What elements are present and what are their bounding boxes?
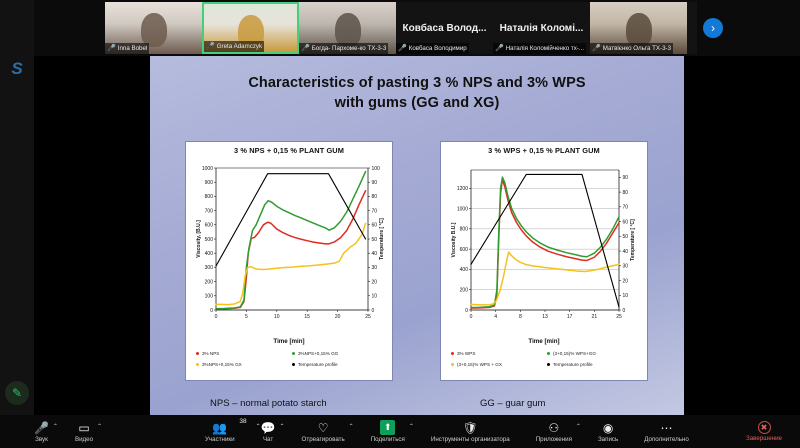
- legend-label: 3% NPS: [202, 351, 219, 356]
- svg-text:0: 0: [470, 314, 473, 320]
- legend-swatch-icon: [292, 363, 295, 366]
- toolbar-label: Чат: [263, 436, 273, 443]
- toolbar-camera-button[interactable]: ▭Видео⌃: [75, 415, 93, 448]
- chevron-up-icon[interactable]: ⌃: [280, 423, 285, 430]
- leave-label: Завершение: [746, 435, 782, 442]
- svg-text:20: 20: [335, 314, 341, 320]
- legend-swatch-icon: [451, 363, 454, 366]
- toolbar-participants-button[interactable]: 👥Участники38⌃: [205, 415, 235, 448]
- chat-icon: 💬: [261, 421, 276, 435]
- svg-text:4: 4: [494, 314, 497, 320]
- legend-label: Temperature profile: [553, 362, 593, 367]
- toolbar-label: Участники: [205, 436, 235, 443]
- mic-muted-icon: 🎤: [107, 45, 116, 52]
- chart-series-line: [471, 174, 619, 307]
- participant-name: Наталія Коломійченко тх-...: [506, 45, 584, 52]
- svg-text:70: 70: [623, 205, 629, 211]
- legend-item: (3+0,15)% WPS + GX: [451, 359, 547, 370]
- participant-name: Богда- Пархоме-ко ТХ-3-3: [312, 45, 387, 52]
- toolbar-share-screen-button[interactable]: ⬆Поделиться⌃: [371, 415, 405, 448]
- slide-title-line-2: with gums (GG and XG): [170, 94, 664, 114]
- svg-text:10: 10: [623, 293, 629, 299]
- legend-item: 3%NPS+0,15% GG: [292, 348, 388, 359]
- share-screen-icon: ⬆: [380, 420, 395, 435]
- toolbar-label: Инструменты организатора: [431, 436, 510, 443]
- video-tile[interactable]: 🎤Матвієнко Ольга ТХ-3-3: [590, 2, 687, 54]
- svg-text:90: 90: [372, 180, 378, 186]
- shared-screen-stage: Characteristics of pasting 3 % NPS and 3…: [34, 56, 800, 415]
- chart-series-line: [471, 179, 619, 308]
- legend-swatch-icon: [547, 352, 550, 355]
- toolbar-label: Приложения: [536, 436, 572, 443]
- left-rail: S ✎: [0, 0, 34, 418]
- svg-text:100: 100: [205, 294, 214, 300]
- svg-text:1000: 1000: [457, 206, 468, 212]
- svg-text:Viscosity, [B.U.]: Viscosity, [B.U.]: [196, 220, 202, 258]
- participant-name-bar: 🎤Inna Bobel: [105, 43, 149, 54]
- host-tools-icon: 🛡: [463, 421, 478, 435]
- svg-text:50: 50: [372, 237, 378, 243]
- legend-item: 3%NPS+0,15% GX: [196, 359, 292, 370]
- toolbar-label: Дополнительно: [644, 436, 689, 443]
- chevron-up-icon[interactable]: ⌃: [576, 423, 581, 430]
- chevron-up-icon[interactable]: ⌃: [349, 423, 354, 430]
- chart-legend-right: 3% WPS(3+0,15)% WPS+GG(3+0,15)% WPS + GX…: [447, 342, 643, 376]
- svg-text:800: 800: [460, 227, 469, 233]
- svg-text:100: 100: [372, 166, 381, 172]
- legend-label: 3%NPS+0,15% GX: [202, 362, 242, 367]
- svg-text:1000: 1000: [202, 166, 213, 172]
- camera-icon: ▭: [78, 421, 89, 435]
- legend-label: Temperature profile: [298, 362, 338, 367]
- legend-item: 3% WPS: [451, 348, 547, 359]
- page-title: Characteristics of pasting 3 % NPS and 3…: [170, 74, 664, 113]
- svg-text:Temperature [ °C]: Temperature [ °C]: [379, 218, 385, 260]
- toolbar-label: Запись: [598, 436, 618, 443]
- svg-text:17: 17: [567, 314, 573, 320]
- svg-text:80: 80: [372, 194, 378, 200]
- svg-text:13: 13: [542, 314, 548, 320]
- apps-icon: ⚇: [548, 421, 559, 435]
- svg-text:600: 600: [460, 247, 469, 253]
- mic-muted-icon: 🎤: [301, 45, 310, 52]
- svg-text:0: 0: [465, 308, 468, 314]
- legend-item: Temperature profile: [292, 359, 388, 370]
- svg-text:700: 700: [205, 208, 214, 214]
- legend-swatch-icon: [292, 352, 295, 355]
- participant-name: Матвієнко Ольга ТХ-3-3: [603, 45, 671, 52]
- record-icon: ◉: [603, 421, 613, 435]
- svg-text:30: 30: [623, 264, 629, 270]
- leave-icon: ✖: [758, 421, 771, 434]
- svg-text:25: 25: [365, 314, 371, 320]
- legend-label: 3%NPS+0,15% GG: [298, 351, 338, 356]
- chart-series-line: [471, 177, 619, 307]
- svg-text:5: 5: [245, 314, 248, 320]
- chart-panel-right: 3 % WPS + 0,15 % PLANT GUM 0200400600800…: [440, 141, 648, 381]
- leave-meeting-button[interactable]: ✖Завершение: [746, 415, 782, 448]
- chart-plot-left: 0100200300400500600700800900100001020304…: [186, 158, 394, 336]
- chevron-up-icon[interactable]: ⌃: [409, 423, 414, 430]
- svg-text:Temperature [ °C]: Temperature [ °C]: [630, 219, 636, 261]
- mic-muted-icon: 🎤: [206, 43, 215, 50]
- chart-plot-right: 0200400600800100012000102030405060708090…: [441, 158, 649, 336]
- video-tile[interactable]: 🎤Богда- Пархоме-ко ТХ-3-3: [299, 2, 396, 54]
- legend-swatch-icon: [196, 352, 199, 355]
- svg-text:80: 80: [623, 190, 629, 196]
- chart-title-right: 3 % WPS + 0,15 % PLANT GUM: [441, 146, 647, 155]
- chart-series-line: [216, 174, 366, 266]
- caption-left: NPS – normal potato starch: [210, 398, 327, 409]
- participant-name: Ковбаса Володимир: [409, 45, 467, 52]
- chart-panel-left: 3 % NPS + 0,15 % PLANT GUM 0100200300400…: [185, 141, 393, 381]
- skype-s-icon[interactable]: S: [6, 57, 28, 79]
- svg-text:Viscosity B.U.]: Viscosity B.U.]: [451, 222, 457, 257]
- svg-text:90: 90: [623, 175, 629, 181]
- video-tile[interactable]: Наталія Коломі...🎤Наталія Коломійченко т…: [493, 2, 590, 54]
- svg-text:900: 900: [205, 180, 214, 186]
- legend-label: (3+0,15)% WPS+GG: [553, 351, 596, 356]
- mic-muted-icon: 🎤: [34, 421, 49, 435]
- svg-text:0: 0: [210, 308, 213, 314]
- svg-text:400: 400: [205, 251, 214, 257]
- svg-text:8: 8: [519, 314, 522, 320]
- svg-text:21: 21: [592, 314, 598, 320]
- chart-svg-right: 0200400600800100012000102030405060708090…: [441, 158, 649, 336]
- svg-text:60: 60: [372, 223, 378, 229]
- svg-text:300: 300: [205, 265, 214, 271]
- legend-swatch-icon: [196, 363, 199, 366]
- toolbar-more-button[interactable]: ⋯Дополнительно: [644, 415, 689, 448]
- svg-text:0: 0: [215, 314, 218, 320]
- video-tile[interactable]: Ковбаса Волод...🎤Ковбаса Володимир: [396, 2, 493, 54]
- participant-name-bar: 🎤Greta Adamczyk: [204, 41, 264, 52]
- svg-text:200: 200: [460, 288, 469, 294]
- svg-text:0: 0: [372, 308, 375, 314]
- svg-text:10: 10: [274, 314, 280, 320]
- participants-count-badge: 38: [239, 418, 246, 425]
- toolbar-label: Отреагировать: [302, 436, 345, 443]
- legend-item: Temperature profile: [547, 359, 643, 370]
- legend-label: 3% WPS: [457, 351, 475, 356]
- caption-right: GG – guar gum: [480, 398, 545, 409]
- chart-series-line: [216, 191, 366, 309]
- participant-name-bar: 🎤Богда- Пархоме-ко ТХ-3-3: [299, 43, 388, 54]
- toolbar-mic-muted-button[interactable]: 🎤Звук⌃: [34, 415, 49, 448]
- filmstrip-next-button[interactable]: ›: [703, 18, 723, 38]
- video-tile[interactable]: 🎤Inna Bobel: [105, 2, 202, 54]
- svg-text:20: 20: [623, 278, 629, 284]
- participant-name: Greta Adamczyk: [217, 43, 262, 50]
- mic-muted-icon: 🎤: [592, 45, 601, 52]
- toolbar-label: Поделиться: [371, 436, 405, 443]
- participant-filmstrip: 🎤Inna Bobel🎤Greta Adamczyk🎤Богда- Пархом…: [105, 2, 697, 54]
- svg-text:20: 20: [372, 279, 378, 285]
- svg-text:10: 10: [372, 294, 378, 300]
- svg-text:500: 500: [205, 237, 214, 243]
- svg-text:50: 50: [623, 234, 629, 240]
- svg-text:0: 0: [623, 308, 626, 314]
- toolbar-label: Звук: [35, 436, 48, 443]
- svg-text:800: 800: [205, 194, 214, 200]
- participant-name: Inna Bobel: [118, 45, 148, 52]
- pencil-icon[interactable]: ✎: [5, 381, 29, 405]
- mic-muted-icon: 🎤: [495, 45, 504, 52]
- legend-label: (3+0,15)% WPS + GX: [457, 362, 502, 367]
- svg-text:400: 400: [460, 267, 469, 273]
- zoom-meeting-window: S ✎ 🎤Inna Bobel🎤Greta Adamczyk🎤Богда- Па…: [0, 0, 800, 448]
- chart-title-left: 3 % NPS + 0,15 % PLANT GUM: [186, 146, 392, 155]
- chart-series-line: [471, 252, 619, 305]
- toolbar-host-tools-button[interactable]: 🛡Инструменты организатора: [431, 415, 510, 448]
- svg-text:25: 25: [616, 314, 622, 320]
- svg-text:30: 30: [372, 265, 378, 271]
- presentation-slide: Characteristics of pasting 3 % NPS and 3…: [150, 56, 684, 415]
- chart-series-line: [216, 172, 366, 309]
- svg-text:1200: 1200: [457, 186, 468, 192]
- svg-text:600: 600: [205, 223, 214, 229]
- toolbar-chat-button[interactable]: 💬Чат⌃: [261, 415, 276, 448]
- svg-text:40: 40: [623, 249, 629, 255]
- slide-title-line-1: Characteristics of pasting 3 % NPS and 3…: [170, 74, 664, 94]
- svg-text:40: 40: [372, 251, 378, 257]
- chevron-up-icon[interactable]: ⌃: [53, 423, 58, 430]
- meeting-toolbar: 🎤Звук⌃▭Видео⌃👥Участники38⌃💬Чат⌃♡Отреагир…: [0, 415, 800, 448]
- legend-swatch-icon: [451, 352, 454, 355]
- heart-icon: ♡: [318, 421, 329, 435]
- toolbar-apps-button[interactable]: ⚇Приложения⌃: [536, 415, 572, 448]
- participant-name-bar: 🎤Ковбаса Володимир: [396, 43, 469, 54]
- svg-text:60: 60: [623, 219, 629, 225]
- toolbar-record-button[interactable]: ◉Запись: [598, 415, 618, 448]
- legend-swatch-icon: [547, 363, 550, 366]
- more-icon: ⋯: [661, 421, 673, 435]
- toolbar-heart-button[interactable]: ♡Отреагировать⌃: [302, 415, 345, 448]
- participant-name-bar: 🎤Наталія Коломійченко тх-...: [493, 43, 586, 54]
- video-tile[interactable]: 🎤Greta Adamczyk: [202, 2, 299, 54]
- legend-item: (3+0,15)% WPS+GG: [547, 348, 643, 359]
- svg-text:70: 70: [372, 208, 378, 214]
- participants-icon: 👥: [212, 421, 227, 435]
- chart-svg-left: 0100200300400500600700800900100001020304…: [186, 158, 394, 336]
- chevron-up-icon[interactable]: ⌃: [97, 423, 102, 430]
- chart-legend-left: 3% NPS3%NPS+0,15% GG3%NPS+0,15% GXTemper…: [192, 342, 388, 376]
- svg-text:200: 200: [205, 279, 214, 285]
- mic-muted-icon: 🎤: [398, 45, 407, 52]
- toolbar-label: Видео: [75, 436, 93, 443]
- legend-item: 3% NPS: [196, 348, 292, 359]
- svg-text:15: 15: [304, 314, 310, 320]
- participant-name-bar: 🎤Матвієнко Ольга ТХ-3-3: [590, 43, 673, 54]
